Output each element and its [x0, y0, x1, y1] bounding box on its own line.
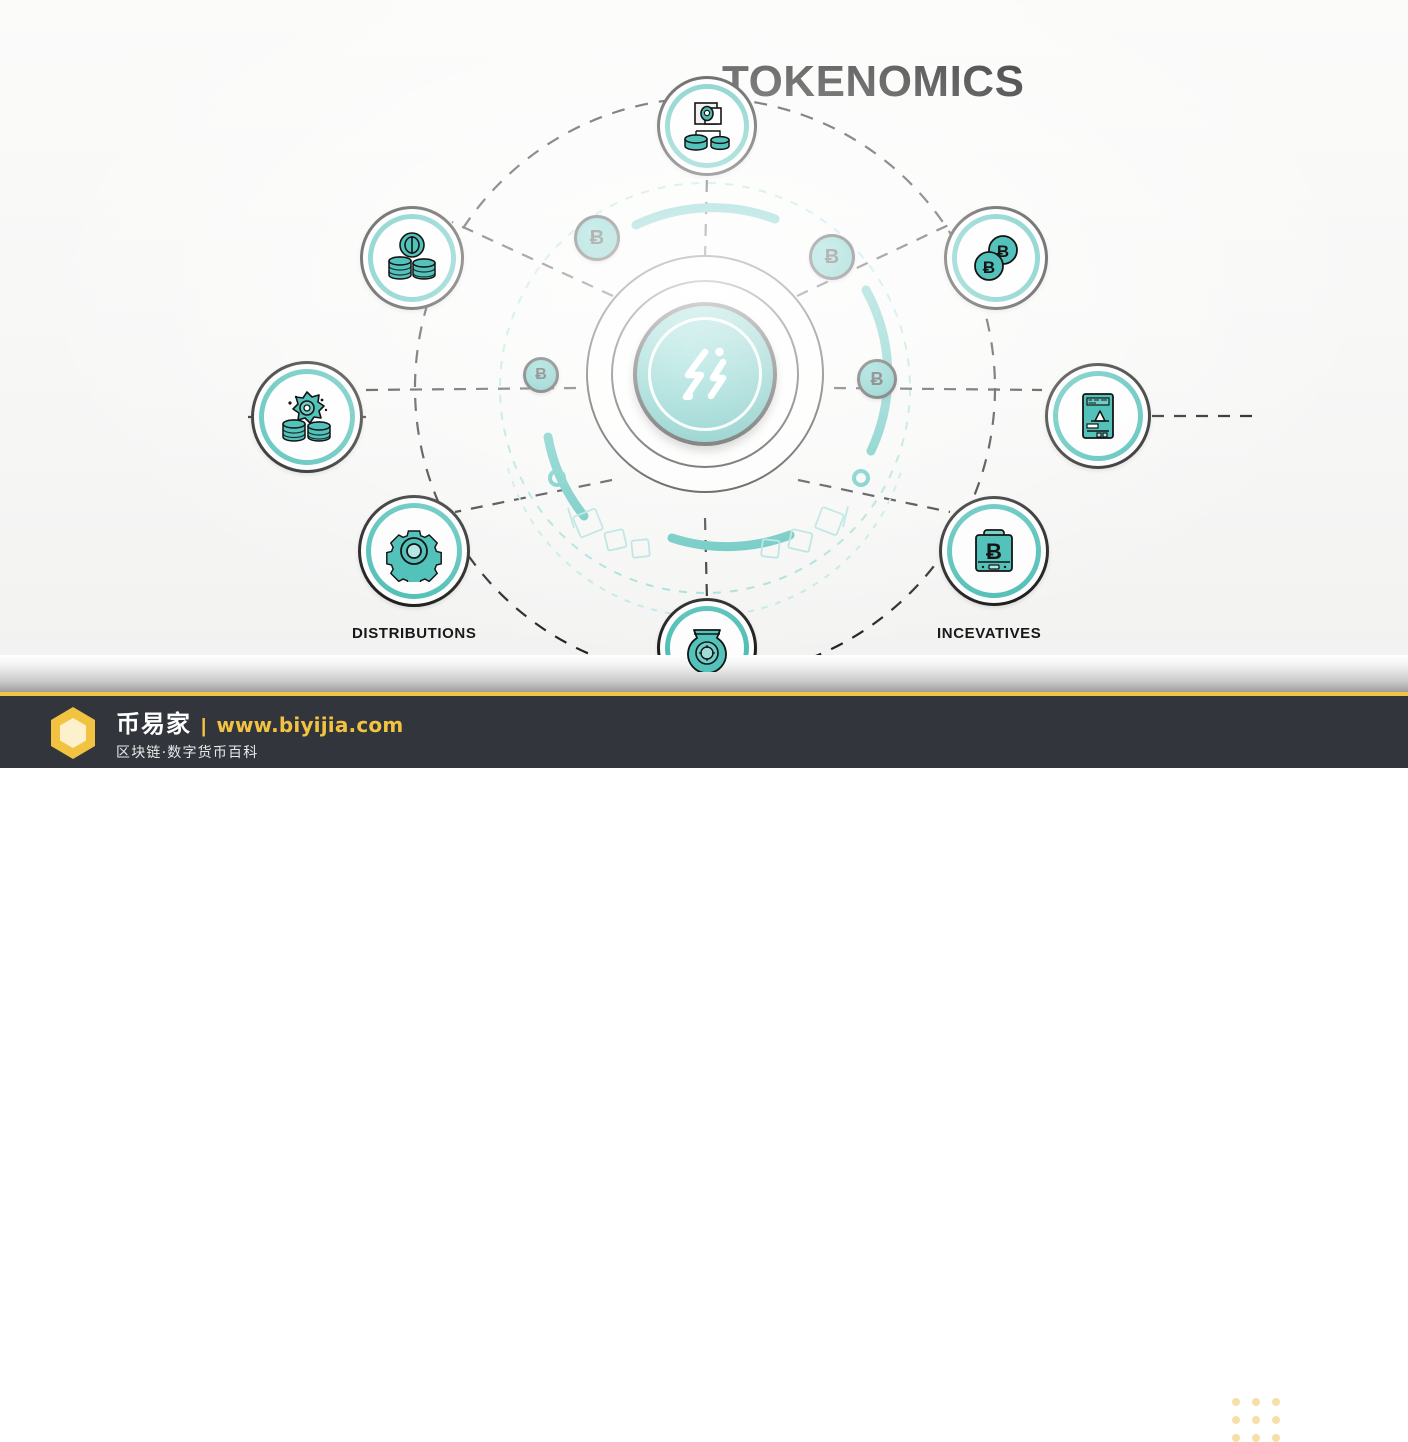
node-upper-right-bitcoin-coins[interactable]: Ƀ Ƀ	[944, 206, 1048, 310]
brand-group: 币易家 | www.biyijia.com 区块链·数字货币百科	[48, 704, 403, 762]
database-coins-icon	[679, 98, 735, 154]
brand-url[interactable]: www.biyijia.com	[216, 713, 403, 737]
grid-dot	[1252, 1398, 1260, 1406]
hexagon-logo-icon	[48, 705, 98, 761]
satellite-coin-e[interactable]: Ƀ	[857, 359, 897, 399]
satellite-coin-nw[interactable]: Ƀ	[574, 215, 620, 261]
diagram-canvas: TOKENOMICS Ƀ Ƀ Ƀ Ƀ	[0, 0, 1408, 672]
grid-dot	[1232, 1416, 1240, 1424]
svg-text:Ƀ: Ƀ	[983, 258, 995, 277]
svg-text:Ƀ: Ƀ	[986, 539, 1002, 564]
small-ring-right	[852, 469, 870, 487]
coin-stacks-icon	[383, 229, 441, 287]
gear-icon	[383, 520, 445, 582]
central-token-coin[interactable]	[633, 302, 777, 446]
infographic-stage: TOKENOMICS Ƀ Ƀ Ƀ Ƀ	[0, 0, 1408, 768]
brand-separator: |	[201, 716, 206, 738]
node-lower-right-bitcoin-case[interactable]: Ƀ	[939, 496, 1049, 606]
grid-dot	[1252, 1416, 1260, 1424]
grid-dot	[1272, 1398, 1280, 1406]
bitcoin-case-icon: Ƀ	[964, 521, 1024, 581]
grid-dot	[1272, 1416, 1280, 1424]
coins-burst-icon	[276, 386, 338, 448]
small-ring-left	[548, 469, 566, 487]
brand-subtitle: 区块链·数字货币百科	[116, 742, 403, 762]
node-left-coins-burst[interactable]	[251, 361, 363, 473]
label-incevatives: INCEVATIVES	[937, 625, 1041, 642]
brand-text-block: 币易家 | www.biyijia.com 区块链·数字货币百科	[116, 704, 403, 762]
satellite-coin-w[interactable]: Ƀ	[523, 357, 559, 393]
bitcoin-coins-icon: Ƀ Ƀ	[967, 229, 1025, 287]
page-title: TOKENOMICS	[722, 57, 1024, 107]
satellite-coin-ne[interactable]: Ƀ	[809, 234, 855, 280]
node-upper-left-coin-stacks[interactable]	[360, 206, 464, 310]
certificate-icon	[1069, 387, 1127, 445]
node-top-database-coins[interactable]	[657, 76, 757, 176]
wallet-bag-icon	[679, 620, 735, 672]
brand-line-primary: 币易家 | www.biyijia.com	[116, 704, 403, 739]
node-lower-left-gear[interactable]	[358, 495, 470, 607]
label-distributions: DISTRIBUTIONS	[352, 625, 476, 642]
brand-name: 币易家	[116, 704, 191, 739]
node-right-certificate[interactable]	[1045, 363, 1151, 469]
decorative-glyphs-right	[761, 506, 848, 558]
branding-footer: 币易家 | www.biyijia.com 区块链·数字货币百科	[0, 692, 1408, 768]
grid-dots-icon[interactable]	[1232, 1398, 1282, 1442]
grid-dot	[1232, 1398, 1240, 1406]
grid-dot	[1252, 1434, 1260, 1442]
hub-inner-ring	[648, 317, 762, 431]
grid-dot	[1232, 1434, 1240, 1442]
grid-dot	[1272, 1434, 1280, 1442]
